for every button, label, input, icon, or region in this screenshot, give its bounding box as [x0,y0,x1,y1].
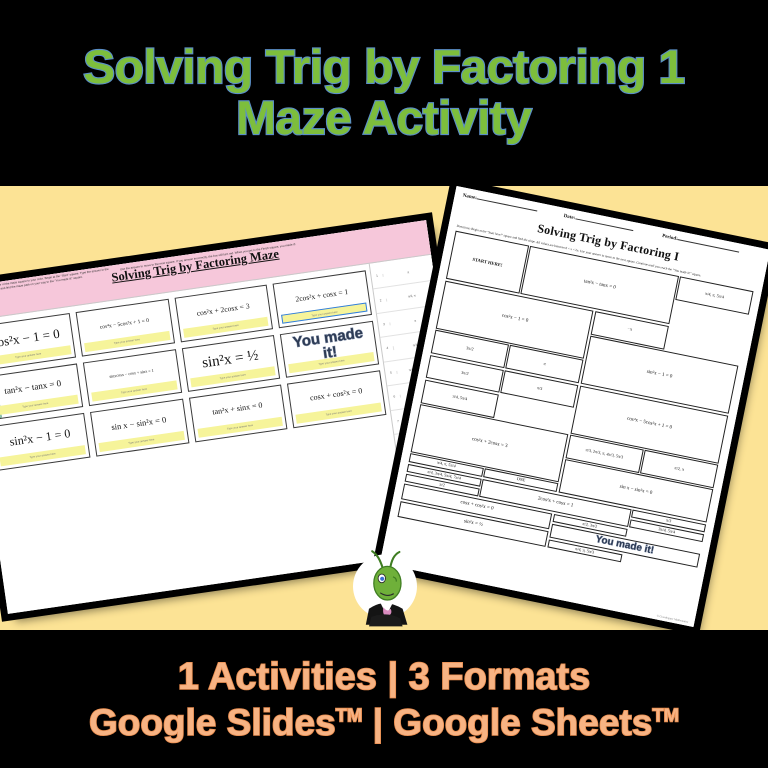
maze-cell-start[interactable]: Starttan²x − tanx = 0Type your answer he… [0,363,83,420]
answer-input-bar[interactable]: Type your answer here [0,395,78,416]
answer-input-bar[interactable]: Type your answer here [183,316,269,337]
maze-cell[interactable]: sinxcosx − cosx + sinx = 1Type your answ… [83,349,182,406]
row-number: 3 [378,322,390,327]
copyright-notice: © Grasshopper Mathematics [656,615,688,624]
footer-activities-count: 1 Activities | 3 Formats [178,658,591,696]
answer-bar-hint: Type your answer here [282,303,366,324]
footer-google-slides: Google Slides [89,702,336,743]
answer-input-bar[interactable]: Type your answer here [98,430,184,451]
trademark-symbol-1: TM [336,704,363,725]
answer-bar-hint: Type your answer here [98,430,184,451]
product-cover: Solving Trig by Factoring 1 Maze Activit… [0,0,768,768]
answer-bar-hint: Type your answer here [84,331,170,352]
maze-cell[interactable]: sin x − sin²x = 0Type your answer here [90,399,189,456]
maze-cell[interactable]: sin²x − 1 = 0Type your answer here [0,413,90,470]
maze-cell-finish[interactable]: You made it!Type your answer here [280,320,379,377]
maze-cell[interactable]: sin²x = ½Type your answer here [181,335,280,392]
answer-key-value: π [383,266,433,277]
answer-bar-hint: Type your answer here [0,345,71,366]
row-number: 6 [389,395,401,400]
answer-key-value: π/2, π [387,291,437,302]
equation-text: cos⁴x − 5cos²x + 1 = 0 [99,317,149,330]
equation-text: cosx + cos²x = 0 [310,387,363,403]
row-number: 4 [382,346,394,351]
maze-cell[interactable]: cos²x + 2cosx = 3Type your answer here [174,285,273,342]
equation-text: cos²x + 2cosx = 3 [196,302,250,318]
answer-bar-hint: Type your answer here [91,380,177,401]
printable-maze-grid: START HERE!tan²x − tanx = 0π/4, π, 5π/4c… [397,231,753,578]
row-number: 7 [392,419,404,424]
header-banner: Solving Trig by Factoring 1 Maze Activit… [0,0,768,186]
grasshopper-mascot-logo [345,548,425,628]
maze-cell[interactable]: tan²x + sinx = 0Type your answer here [188,385,287,442]
row-number: 5 [385,371,397,376]
footer-formats: Google SlidesTM | Google SheetsTM [89,704,679,741]
row-number: 1 [371,274,383,279]
answer-input-bar[interactable]: Type your answer here [0,345,71,366]
sheet-directions-left: Directions: Change the color of the maze… [0,267,115,296]
equation-text: 2cos²x + cosx = 1 [295,288,349,304]
footer-google-sheets: | Google Sheets [362,702,652,743]
footer-banner: 1 Activities | 3 Formats Google SlidesTM… [0,630,768,768]
equation-text: sin²x = ½ [201,348,259,372]
page-title-line2: Maze Activity [236,95,531,142]
answer-bar-hint: Type your answer here [0,395,78,416]
equation-text: tan²x + sinx = 0 [212,402,263,418]
page-title-line1: Solving Trig by Factoring 1 [83,44,685,91]
maze-cell[interactable]: cosx + cos²x = 0Type your answer here [287,370,386,427]
equation-text: sin²x − 1 = 0 [9,427,71,449]
maze-cell[interactable]: 2cos²x + cosx = 1Type your answer here [273,270,372,327]
answer-input-bar[interactable]: Type your answer here [281,302,367,323]
answer-input-bar[interactable]: Type your answer here [296,402,382,423]
answer-bar-hint: Type your answer here [183,316,269,337]
answer-bar-hint: Type your answer here [197,416,283,437]
trademark-symbol-2: TM [652,704,679,725]
answer-bar-hint: Type your answer here [296,402,382,423]
answer-input-bar[interactable]: Type your answer here [84,331,170,352]
equation-text: sinxcosx − cosx + sinx = 1 [109,369,154,380]
equation-text: sin x − sin²x = 0 [111,415,167,432]
answer-input-bar[interactable]: Type your answer here [197,416,283,437]
printable-worksheet-preview[interactable]: Name: Date: Period: Solving Trig by Fact… [380,186,768,627]
row-number: 2 [375,298,387,303]
maze-cell[interactable]: cos²x − 1 = 0Type your answer here [0,313,76,370]
answer-input-bar[interactable]: Type your answer here [91,380,177,401]
maze-cell[interactable]: cos⁴x − 5cos²x + 1 = 0Type your answer h… [75,299,174,356]
equation-text: tan²x − tanx = 0 [4,379,62,397]
